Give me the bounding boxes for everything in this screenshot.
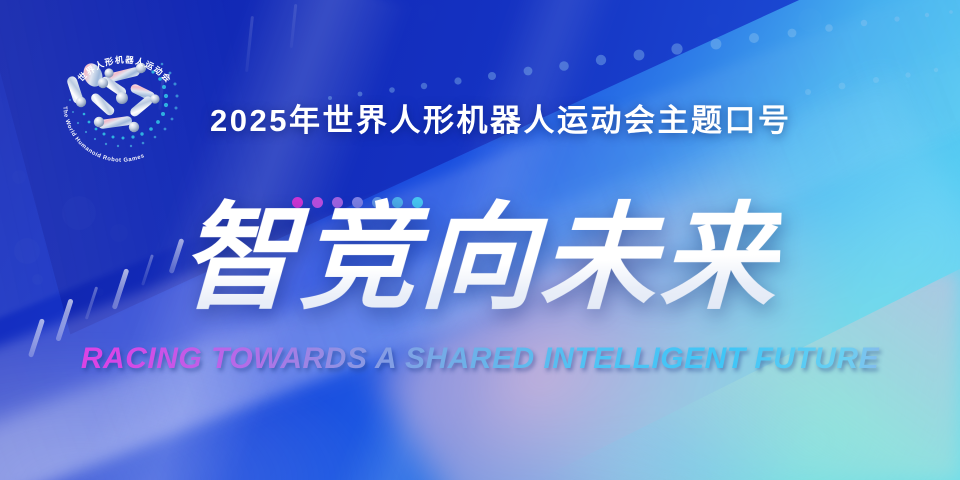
bokeh-circle — [862, 2, 878, 18]
decor-streak — [245, 16, 254, 72]
slogan-container: 智竞向未来 智竞向未来 — [0, 196, 960, 321]
bokeh-circle — [12, 170, 26, 184]
world-humanoid-robot-games-logo: 世界人形机器人运动会 The World Humanoid Robot Game… — [56, 42, 184, 160]
bokeh-circle — [916, 18, 928, 30]
logo-robot-figure — [66, 61, 160, 133]
poster-banner: 世界人形机器人运动会 The World Humanoid Robot Game… — [0, 0, 960, 480]
page-title: 2025年世界人形机器人运动会主题口号 — [210, 95, 791, 140]
bokeh-circle — [418, 4, 436, 22]
slogan-text: 智竞向未来 — [178, 196, 782, 321]
bokeh-circle — [798, 8, 822, 32]
slogan-subtitle: RACING TOWARDS A SHARED INTELLIGENT FUTU… — [0, 342, 960, 376]
decor-streak — [290, 4, 298, 48]
bokeh-circle — [706, 14, 720, 28]
